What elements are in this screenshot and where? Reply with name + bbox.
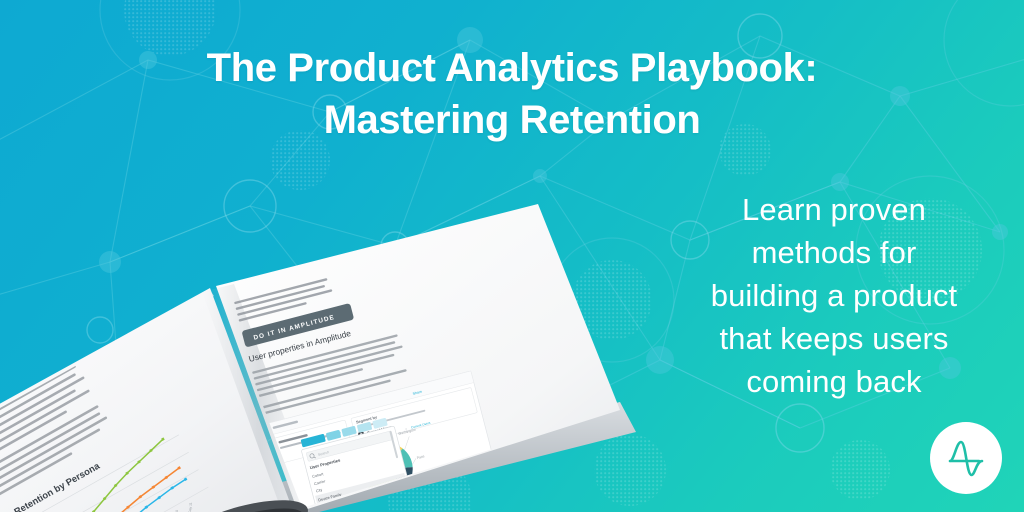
playbook-book-mockup: Daily Retention by Persona 50% 0% bbox=[0, 196, 672, 512]
marketing-banner: Daily Retention by Persona 50% 0% bbox=[0, 0, 1024, 512]
amplitude-logo-icon bbox=[941, 433, 991, 483]
page-title: The Product Analytics Playbook: Masterin… bbox=[0, 42, 1024, 146]
svg-text:Ontario: Ontario bbox=[385, 501, 397, 508]
page-footer: Product Analytics Playbook — 081 bbox=[437, 508, 509, 512]
book-illustration: Daily Retention by Persona 50% 0% bbox=[0, 196, 672, 512]
subheading-line-4: that keeps users bbox=[674, 317, 994, 360]
amplitude-logo-badge bbox=[930, 422, 1002, 494]
subheading-line-2: methods for bbox=[674, 231, 994, 274]
subheading-line-1: Learn proven bbox=[674, 188, 994, 231]
subheading: Learn proven methods for building a prod… bbox=[674, 188, 994, 403]
subheading-line-5: coming back bbox=[674, 360, 994, 403]
headline-line-2: Mastering Retention bbox=[0, 94, 1024, 146]
headline-line-1: The Product Analytics Playbook: bbox=[0, 42, 1024, 94]
subheading-line-3: building a product bbox=[674, 274, 994, 317]
